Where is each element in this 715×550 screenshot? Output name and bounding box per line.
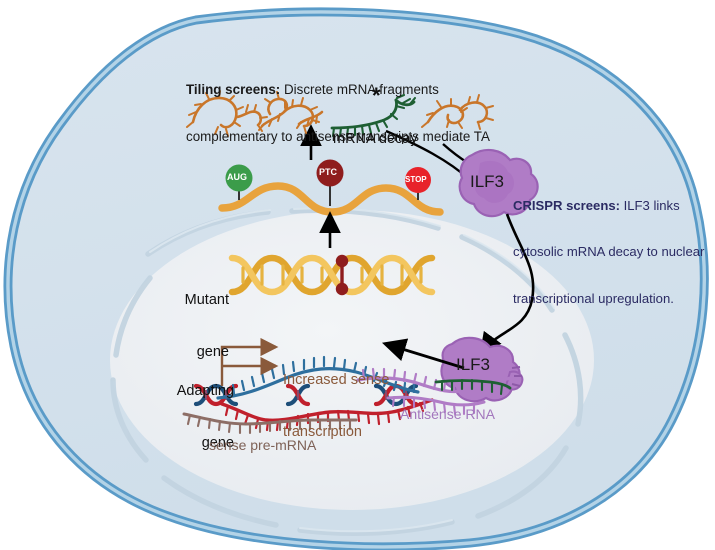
crispr-screens-label: CRISPR screens:	[513, 198, 620, 213]
tiling-screens-line1: Discrete mRNA fragments	[280, 82, 439, 97]
ilf3-nuclear-label: ILF3	[456, 355, 490, 375]
mutant-gene-line1: Mutant	[167, 292, 229, 309]
tiling-screens-label: Tiling screens:	[186, 82, 280, 97]
sense-pre-mrna-label: sense pre-mRNA	[209, 437, 316, 454]
crispr-screens-line1: ILF3 links	[620, 198, 680, 213]
ilf3-cytosolic-label: ILF3	[470, 172, 504, 192]
asterisk-marker: *	[372, 83, 381, 109]
crispr-screens-line3: transcriptional upregulation.	[513, 291, 704, 306]
stop-codon-text: STOP	[405, 175, 427, 184]
figure-canvas: Tiling screens: Discrete mRNA fragments …	[0, 0, 715, 550]
adapting-gene-line1: Adapting	[160, 383, 234, 400]
crispr-screens-annotation: CRISPR screens: ILF3 links cytosolic mRN…	[513, 167, 704, 321]
antisense-rna-label: Antisense RNA	[400, 406, 495, 423]
start-codon-text: AUG	[227, 172, 247, 183]
increased-sense-line1: Increased sense	[283, 372, 389, 389]
ptc-codon-text: PTC	[319, 167, 337, 178]
mrna-decay-label: mRNA decay	[333, 131, 418, 148]
crispr-screens-line2: cytosolic mRNA decay to nuclear	[513, 244, 704, 259]
